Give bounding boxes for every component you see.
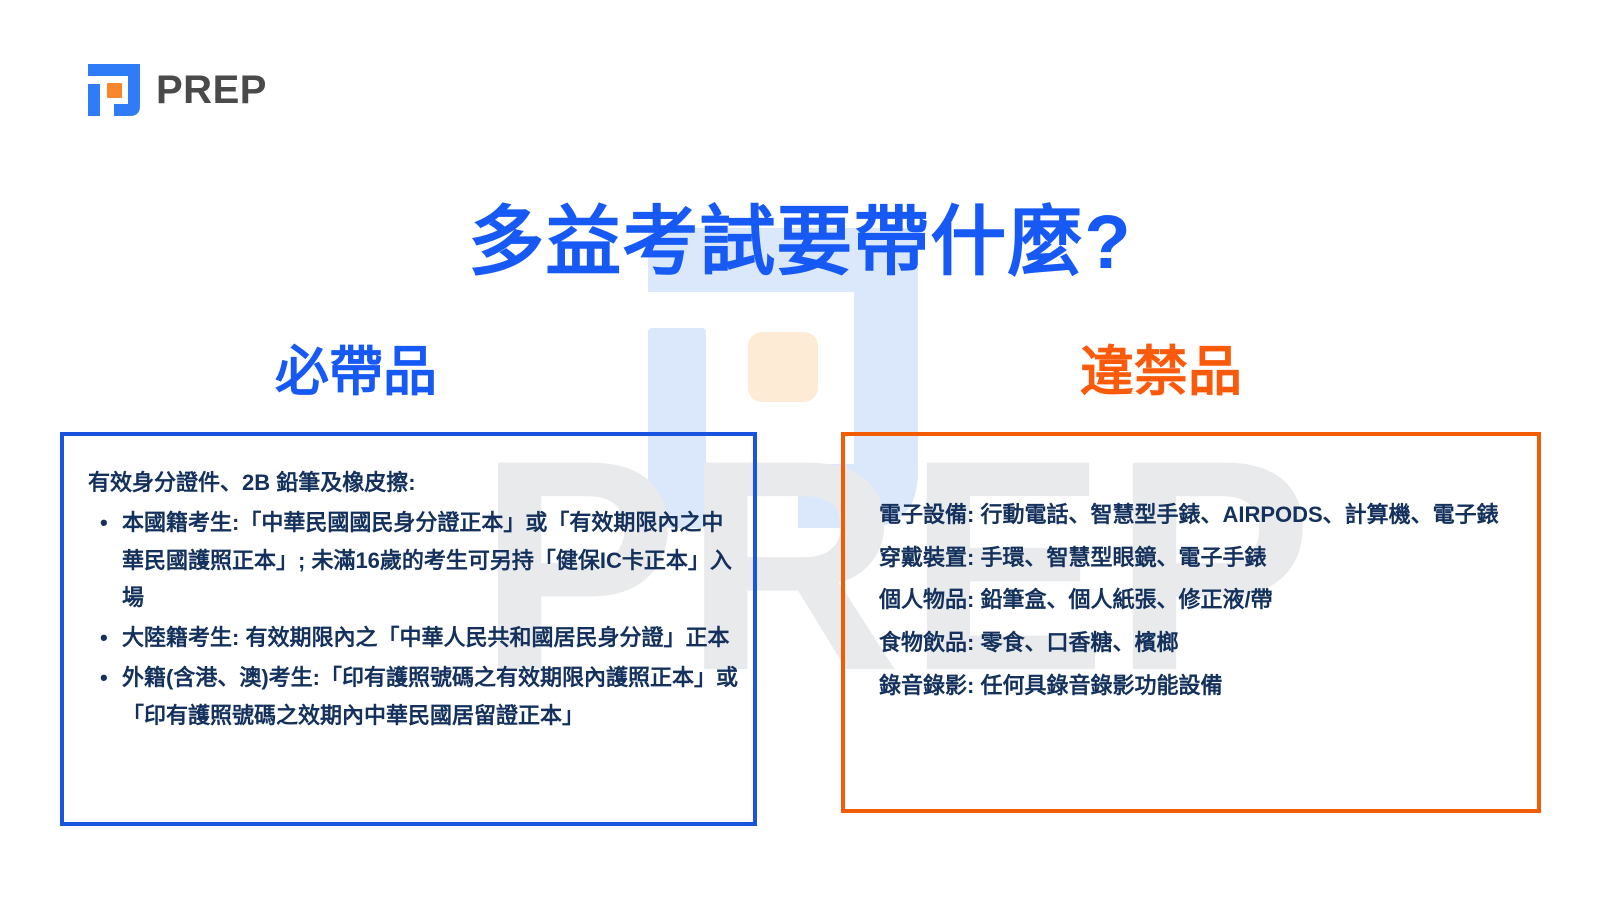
section-heading-prohibited: 違禁品 xyxy=(1080,345,1242,399)
list-item: 錄音錄影: 任何具錄音錄影功能設備 xyxy=(879,665,1523,708)
list-item: 大陸籍考生: 有效期限內之「中華人民共和國居民身分證」正本 xyxy=(122,619,741,657)
list-item: 食物飲品: 零食、口香糖、檳榔 xyxy=(879,622,1523,665)
list-item: 個人物品: 鉛筆盒、個人紙張、修正液/帶 xyxy=(879,579,1523,622)
prohibited-content: 電子設備: 行動電話、智慧型手錶、AIRPODS、計算機、電子錶 穿戴裝置: 手… xyxy=(879,494,1523,707)
section-heading-must-bring: 必帶品 xyxy=(275,345,437,399)
prohibited-list: 電子設備: 行動電話、智慧型手錶、AIRPODS、計算機、電子錶 穿戴裝置: 手… xyxy=(879,494,1523,707)
panel-must-bring: 有效身分證件、2B 鉛筆及橡皮擦: 本國籍考生:「中華民國國民身分證正本」或「有… xyxy=(60,432,757,826)
must-bring-list: 本國籍考生:「中華民國國民身分證正本」或「有效期限內之中華民國護照正本」; 未滿… xyxy=(88,504,741,735)
list-item: 本國籍考生:「中華民國國民身分證正本」或「有效期限內之中華民國護照正本」; 未滿… xyxy=(122,504,741,617)
must-bring-content: 有效身分證件、2B 鉛筆及橡皮擦: 本國籍考生:「中華民國國民身分證正本」或「有… xyxy=(88,464,741,737)
list-item: 電子設備: 行動電話、智慧型手錶、AIRPODS、計算機、電子錶 xyxy=(879,494,1523,537)
list-item: 穿戴裝置: 手環、智慧型眼鏡、電子手錶 xyxy=(879,537,1523,580)
must-bring-intro: 有效身分證件、2B 鉛筆及橡皮擦: xyxy=(88,464,741,502)
panel-prohibited: 電子設備: 行動電話、智慧型手錶、AIRPODS、計算機、電子錶 穿戴裝置: 手… xyxy=(841,432,1541,813)
page-title: 多益考試要帶什麼? xyxy=(0,201,1600,285)
brand-logo: PREP xyxy=(86,62,267,118)
list-item: 外籍(含港、澳)考生:「印有護照號碼之有效期限內護照正本」或「印有護照號碼之效期… xyxy=(122,659,741,735)
prep-logo-icon xyxy=(86,62,142,118)
brand-wordmark: PREP xyxy=(156,70,267,110)
